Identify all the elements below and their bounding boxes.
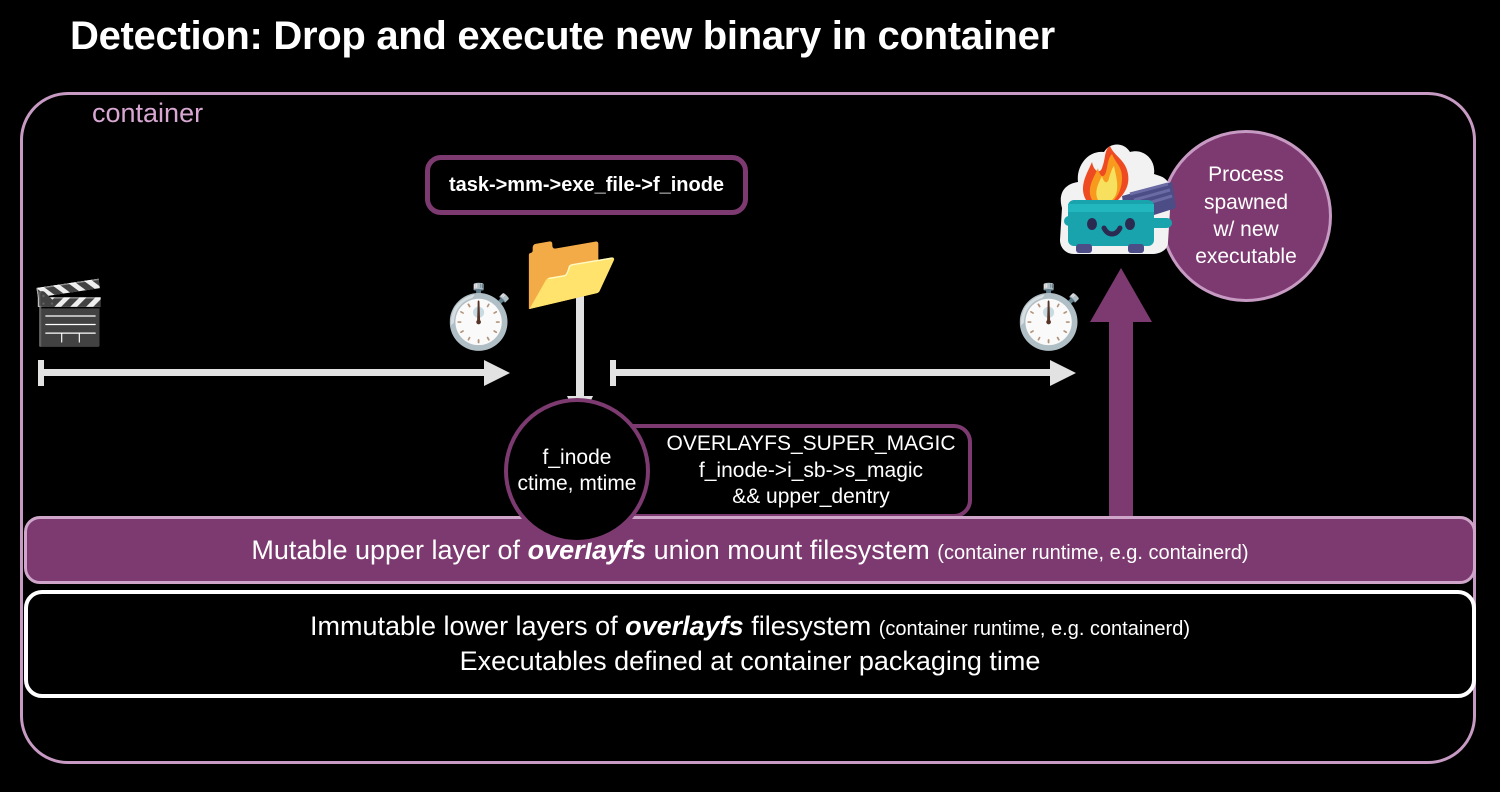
clapperboard-icon: 🎬 [30,283,107,345]
stopwatch-icon-first: ⏱️ [440,287,517,349]
diagram-canvas: Detection: Drop and execute new binary i… [0,0,1500,792]
inode-line-1: f_inode [543,445,612,471]
magic-line-3: && upper_dentry [732,484,890,511]
timeline-arrow-first-head [484,360,510,386]
code-callout-exe-file: task->mm->exe_file->f_inode [425,155,748,215]
stopwatch-icon-second: ⏱️ [1010,287,1087,349]
overlayfs-upper-layer-bar: Mutable upper layer of overlayfs union m… [24,516,1476,584]
spawn-line-2: spawned [1204,189,1288,216]
code-callout-text: task->mm->exe_file->f_inode [449,174,724,197]
inode-line-2: ctime, mtime [517,471,636,497]
timeline-arrow-first [38,360,510,386]
spawn-line-1: Process [1208,161,1284,188]
timeline-arrow-second-head [1050,360,1076,386]
lower-layer-text-line-1: Immutable lower layers of overlayfs file… [310,611,1190,642]
lower-layer-prefix: Immutable lower layers of [310,611,625,641]
lower-layer-text-line-2: Executables defined at container packagi… [460,646,1041,677]
container-label: container [92,98,203,129]
process-spawned-bubble: Process spawned w/ new executable [1160,130,1332,302]
dumpster-fire-icon [1048,138,1180,266]
lower-layer-suffix: filesystem [744,611,879,641]
purple-arrow-shaft [1109,318,1133,530]
spawn-line-4: executable [1195,243,1297,270]
upper-layer-to-process-arrow [1090,268,1152,528]
upper-layer-prefix: Mutable upper layer of [251,535,527,565]
lower-layer-emphasis: overlayfs [625,611,744,641]
spawn-line-3: w/ new [1213,216,1278,243]
magic-line-2: f_inode->i_sb->s_magic [699,458,923,485]
timeline-arrow-first-shaft [42,369,486,376]
upper-layer-text: Mutable upper layer of overlayfs union m… [251,535,1248,566]
page-title: Detection: Drop and execute new binary i… [70,14,1055,59]
magic-line-1: OVERLAYFS_SUPER_MAGIC [666,431,955,458]
open-folder-icon: 📂 [523,232,620,310]
upper-layer-suffix: union mount filesystem [646,535,937,565]
overlayfs-lower-layers-box: Immutable lower layers of overlayfs file… [24,590,1476,698]
lower-layer-note: (container runtime, e.g. containerd) [879,618,1190,640]
purple-arrow-head [1090,268,1152,322]
timeline-arrow-second [610,360,1076,386]
upper-layer-note: (container runtime, e.g. containerd) [937,542,1248,564]
timeline-arrow-second-shaft [614,369,1052,376]
f-inode-timestamps-circle: f_inode ctime, mtime [504,398,650,544]
